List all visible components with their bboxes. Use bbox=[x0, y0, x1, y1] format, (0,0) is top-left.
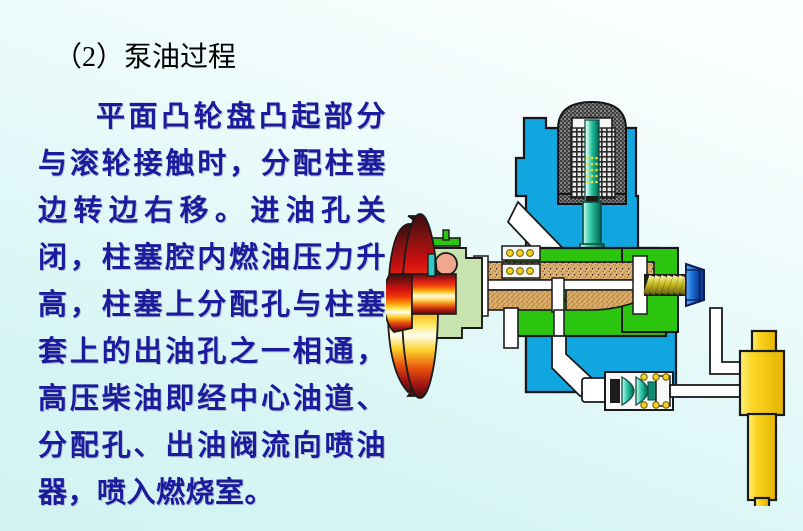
plunger-spring bbox=[646, 276, 688, 294]
shaft-key bbox=[428, 254, 435, 276]
body-paragraph: 平面凸轮盘凸起部分与滚轮接触时，分配柱塞边转边右移。进油孔关闭，柱塞腔内燃油压力… bbox=[38, 94, 386, 517]
inlet-port-passages bbox=[504, 308, 518, 348]
injector bbox=[740, 331, 784, 506]
injection-pump-diagram bbox=[386, 96, 798, 506]
outlet-delivery-valve bbox=[605, 372, 673, 410]
roller bbox=[435, 253, 457, 275]
injector-inlet-cap bbox=[752, 331, 776, 353]
slide-canvas: （2）泵油过程 平面凸轮盘凸起部分与滚轮接触时，分配柱塞边转边右移。进油孔关闭，… bbox=[0, 0, 803, 531]
injector-nozzle-holder bbox=[748, 414, 776, 500]
page-title: （2）泵油过程 bbox=[54, 40, 236, 76]
injector-nozzle-tip bbox=[755, 498, 769, 506]
injector-body bbox=[740, 351, 784, 415]
cam-drive-shaft bbox=[412, 274, 456, 314]
